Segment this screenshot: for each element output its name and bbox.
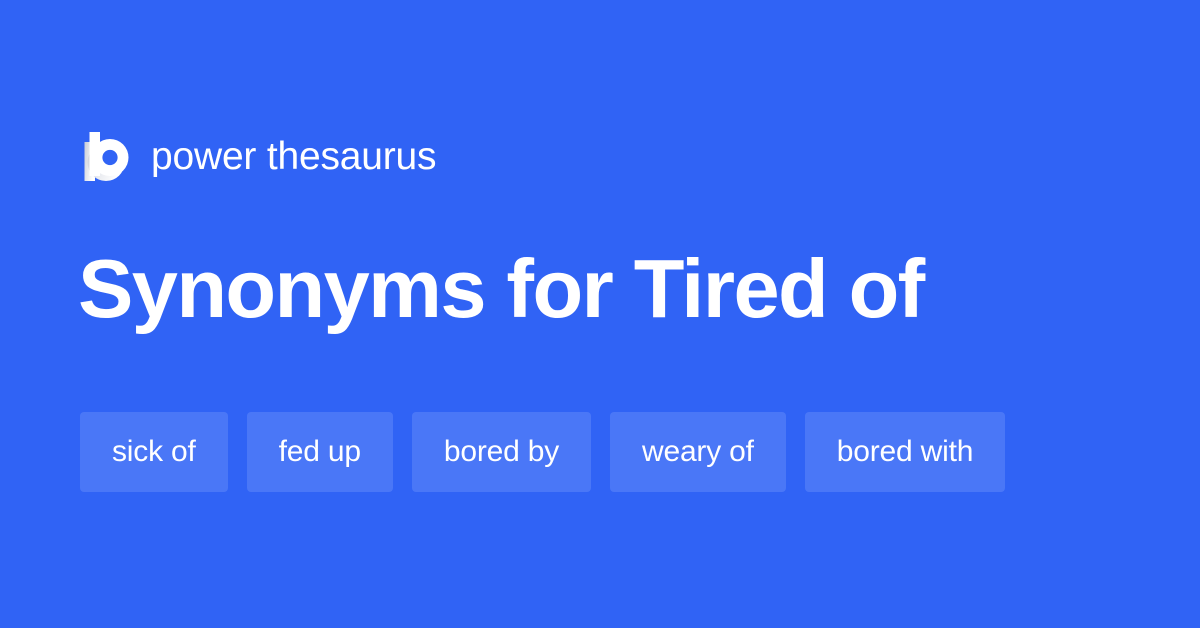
power-thesaurus-b-logo-icon [80, 132, 129, 181]
synonym-chip-list: sick of fed up bored by weary of bored w… [80, 412, 1005, 492]
synonym-chip[interactable]: bored with [805, 412, 1005, 492]
synonym-chip[interactable]: fed up [247, 412, 393, 492]
synonym-chip[interactable]: sick of [80, 412, 228, 492]
brand-name: power thesaurus [151, 137, 436, 176]
synonym-chip[interactable]: bored by [412, 412, 591, 492]
brand-header[interactable]: power thesaurus [80, 128, 436, 184]
synonym-chip[interactable]: weary of [610, 412, 786, 492]
page-title: Synonyms for Tired of [78, 247, 924, 330]
